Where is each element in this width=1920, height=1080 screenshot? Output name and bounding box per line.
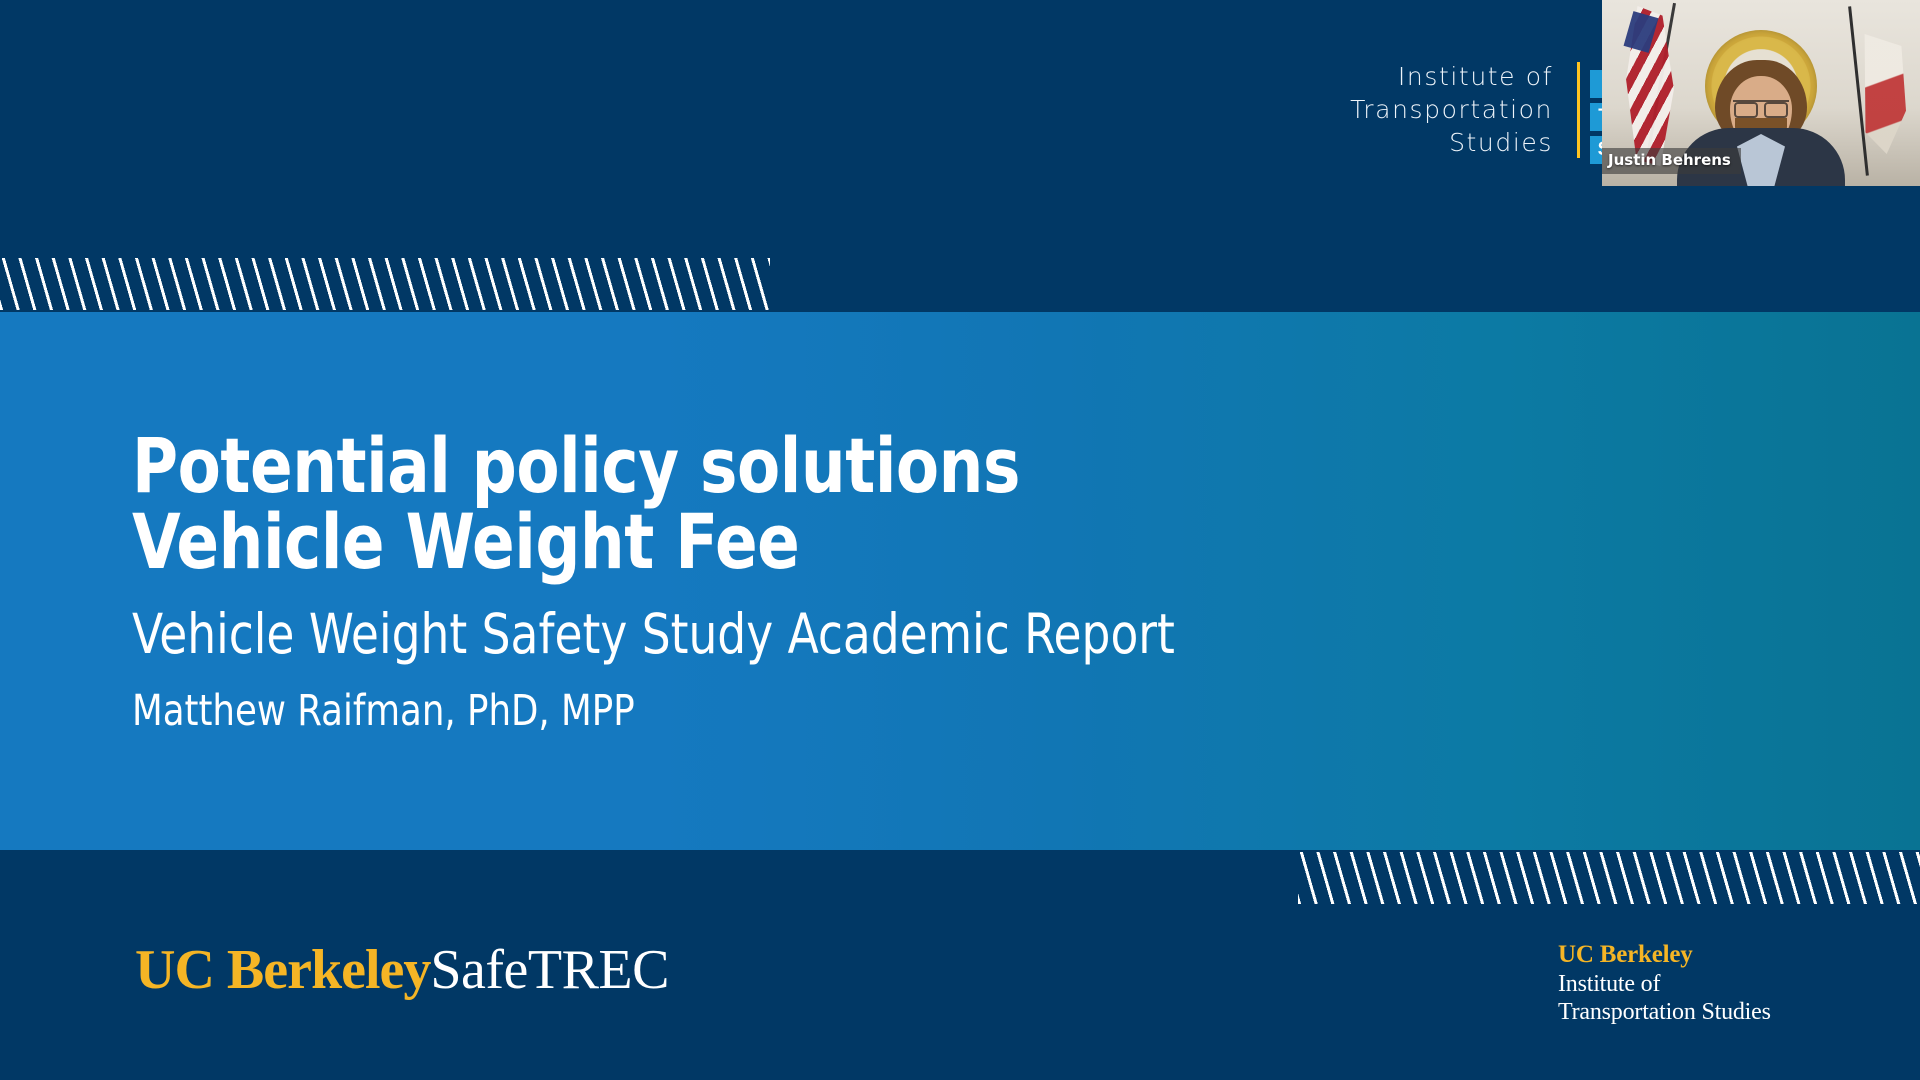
its-header-logo-text: Institute of Transportation Studies <box>1350 60 1577 159</box>
page-title: Potential policy solutions Vehicle Weigh… <box>132 428 1777 580</box>
diagonal-stripes-bottom <box>1298 852 1920 904</box>
page-subtitle: Vehicle Weight Safety Study Academic Rep… <box>132 606 1777 664</box>
its-footer-logo-uc: UC Berkeley <box>1558 940 1771 970</box>
participant-name: Justin Behrens <box>1608 151 1731 169</box>
safetrec-logo-uc: UC Berkeley <box>135 939 430 1001</box>
its-header-logo-divider <box>1577 62 1580 158</box>
its-footer-logo-line2: Transportation Studies <box>1558 998 1771 1026</box>
safetrec-logo: UC BerkeleySafeTREC <box>135 942 669 998</box>
header-band: Institute of Transportation Studies I T … <box>0 0 1920 258</box>
hero-content: Potential policy solutions Vehicle Weigh… <box>132 312 1920 850</box>
glasses-icon <box>1733 100 1789 115</box>
its-header-logo-line2: Transportation <box>1350 93 1553 126</box>
its-header-logo-line1: Institute of <box>1350 60 1553 93</box>
its-header-logo-line3: Studies <box>1350 126 1553 159</box>
presentation-slide: Institute of Transportation Studies I T … <box>0 0 1920 1080</box>
page-author: Matthew Raifman, PhD, MPP <box>132 689 1777 734</box>
video-participant-tile[interactable]: Justin Behrens <box>1602 0 1920 186</box>
safetrec-logo-name: SafeTREC <box>430 939 669 1001</box>
its-footer-logo: UC Berkeley Institute of Transportation … <box>1558 940 1771 1026</box>
diagonal-stripes-top <box>0 258 770 310</box>
hero-band: Potential policy solutions Vehicle Weigh… <box>0 312 1920 850</box>
video-name-label: Justin Behrens <box>1602 148 1741 174</box>
its-header-logo: Institute of Transportation Studies <box>1350 60 1580 159</box>
its-footer-logo-line1: Institute of <box>1558 970 1771 998</box>
